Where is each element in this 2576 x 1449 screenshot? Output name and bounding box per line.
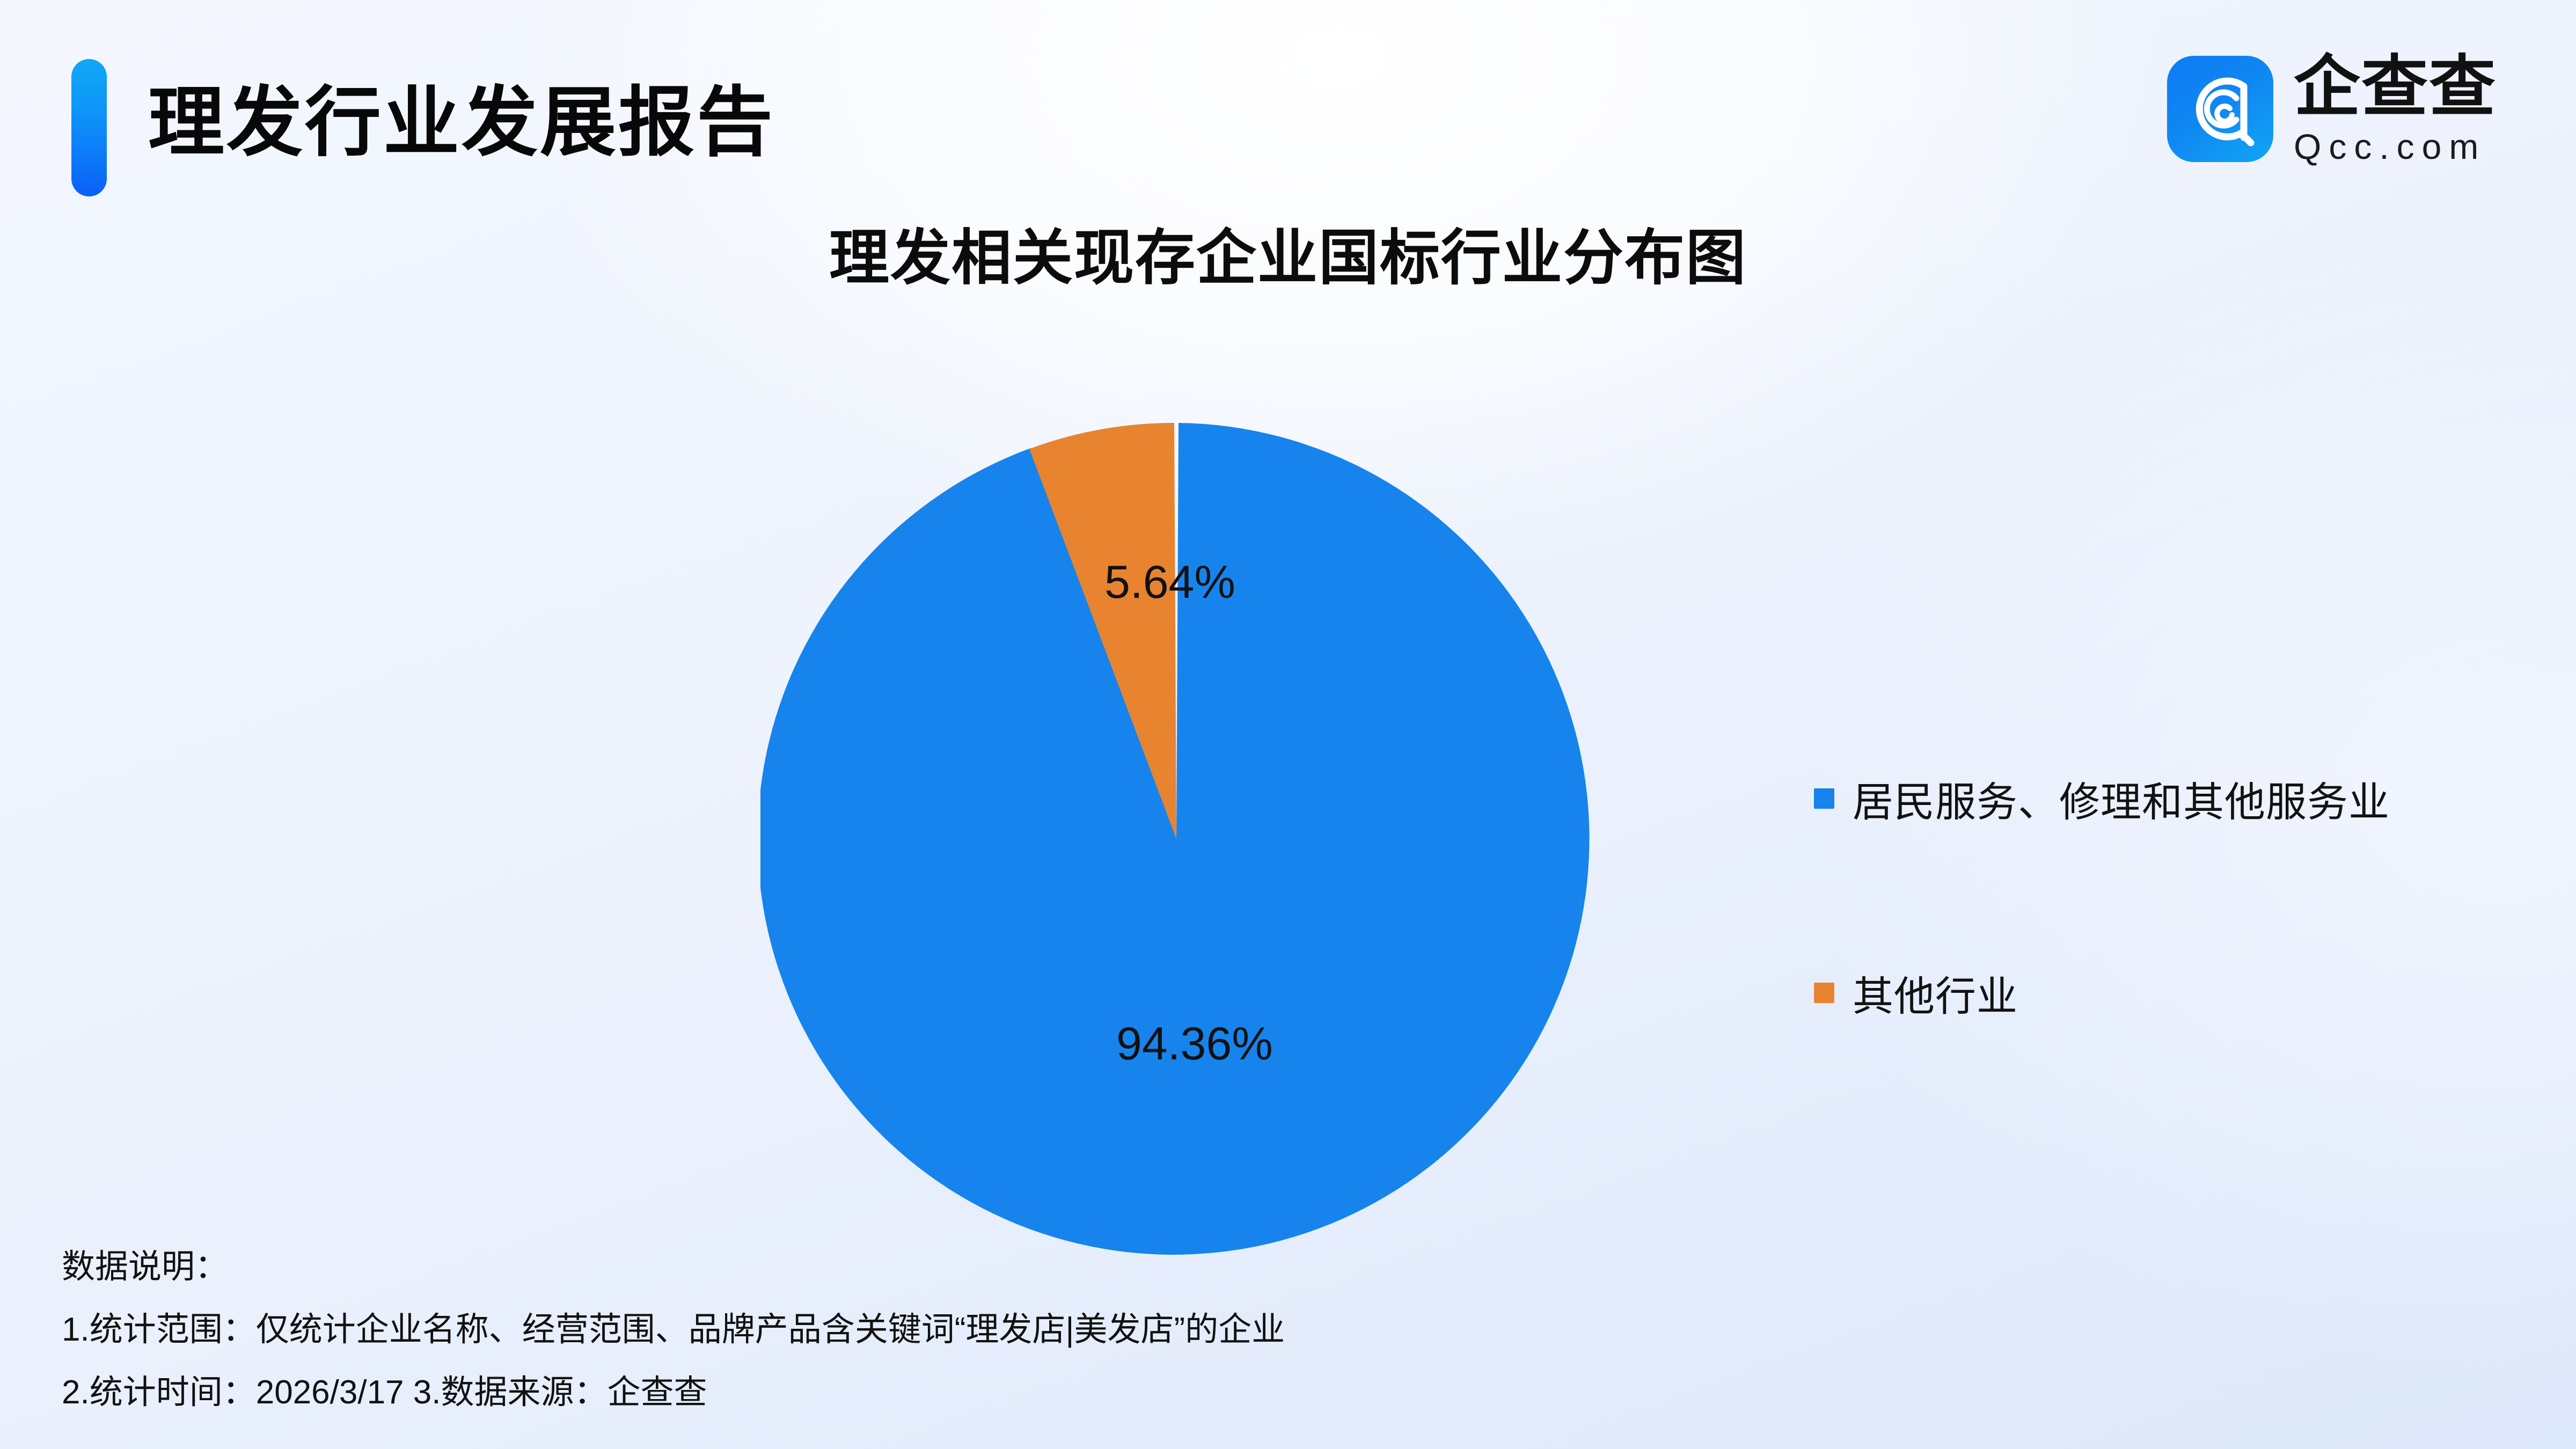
brand-wordmark: 企查查 Qcc.com: [2294, 54, 2497, 164]
legend-label: 居民服务、修理和其他服务业: [1853, 769, 2390, 828]
brand-name-cn: 企查查: [2294, 54, 2497, 120]
legend-item-other-industries[interactable]: 其他行业: [1814, 967, 2490, 1019]
legend-swatch-icon: [1814, 983, 1834, 1003]
legend-item-residential-services[interactable]: 居民服务、修理和其他服务业: [1814, 773, 2490, 824]
notes-time-source: 2.统计时间：2026/3/17 3.数据来源：企查查: [62, 1376, 2316, 1409]
pie-chart: 5.64% 94.36%: [760, 423, 1592, 1255]
data-notes: 数据说明： 1.统计范围：仅统计企业名称、经营范围、品牌产品含关键词“理发店|美…: [62, 1250, 2316, 1409]
chart-title: 理发相关现存企业国标行业分布图: [0, 209, 2576, 296]
legend-label: 其他行业: [1853, 963, 2018, 1022]
brand-domain: Qcc.com: [2294, 129, 2497, 164]
report-page: 理发行业发展报告 企查查 Qcc.com 理发相关现存企业国标行业分布图: [0, 0, 2576, 1449]
pie-slice-residential-services[interactable]: [760, 423, 1590, 1255]
pie-label-residential-services: 94.36%: [1116, 1018, 1273, 1071]
legend-swatch-icon: [1814, 788, 1834, 809]
notes-scope: 1.统计范围：仅统计企业名称、经营范围、品牌产品含关键词“理发店|美发店”的企业: [62, 1313, 2316, 1346]
notes-heading: 数据说明：: [62, 1250, 2316, 1284]
qcc-brand-logo: 企查查 Qcc.com: [2167, 54, 2497, 164]
page-title: 理发行业发展报告: [148, 75, 775, 171]
title-accent-bar: [71, 59, 107, 196]
qcc-logo-icon: [2167, 56, 2273, 162]
chart-legend: 居民服务、修理和其他服务业 其他行业: [1814, 773, 2490, 1019]
pie-label-other-industries: 5.64%: [1104, 556, 1235, 609]
